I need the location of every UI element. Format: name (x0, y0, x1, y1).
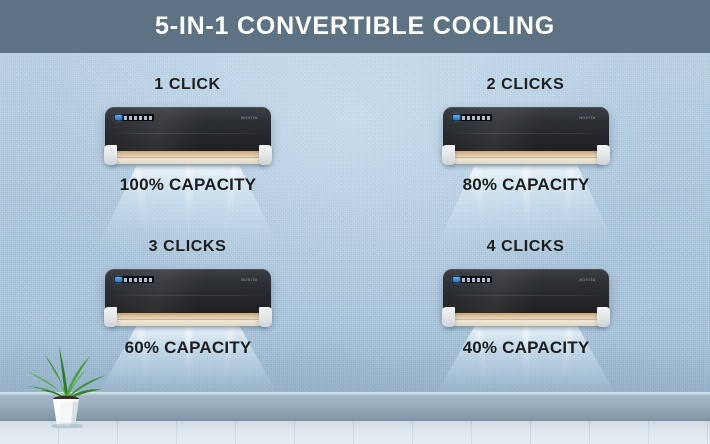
power-led-icon (115, 277, 122, 282)
ac-display-panel (114, 114, 154, 121)
plant-leaves (26, 346, 106, 399)
ac-unit-mode-1[interactable]: NOVITA (105, 107, 271, 167)
ac-body-crease (448, 133, 604, 134)
ac-side-cap-left (442, 145, 455, 165)
ac-side-cap-left (104, 307, 117, 327)
power-led-icon (453, 277, 460, 282)
ac-brand-logo: NOVITA (241, 277, 258, 282)
ac-louver-vent (109, 151, 267, 164)
capacity-label-mode-2: 80% CAPACITY (433, 175, 619, 195)
capacity-label-mode-3: 60% CAPACITY (95, 338, 281, 358)
ac-side-cap-right (597, 307, 610, 327)
ac-side-cap-right (259, 307, 272, 327)
display-segments-icon (124, 116, 154, 120)
ac-side-cap-right (597, 145, 610, 165)
click-label-mode-2: 2 CLICKS (443, 76, 608, 94)
ac-louver-vent (447, 313, 605, 326)
ac-louver-seam (112, 319, 263, 320)
ac-body-crease (110, 295, 266, 296)
ac-side-cap-left (104, 145, 117, 165)
ac-unit-mode-4[interactable]: NOVITA (443, 269, 609, 329)
ac-louver-seam (450, 157, 601, 158)
ac-body-crease (448, 295, 604, 296)
ac-louver-seam (112, 157, 263, 158)
header-banner: 5-IN-1 CONVERTIBLE COOLING (0, 0, 710, 53)
ac-body-crease (110, 133, 266, 134)
power-led-icon (453, 115, 460, 120)
ac-display-panel (114, 276, 154, 283)
plant-shadow (51, 423, 83, 428)
ac-brand-logo: NOVITA (579, 115, 596, 120)
ac-display-panel (452, 276, 492, 283)
page-title: 5-IN-1 CONVERTIBLE COOLING (155, 12, 555, 41)
potted-palm-plant-icon (18, 338, 114, 428)
ac-brand-logo: NOVITA (579, 277, 596, 282)
display-segments-icon (462, 278, 492, 282)
display-segments-icon (124, 278, 154, 282)
ac-louver-vent (109, 313, 267, 326)
ac-louver-vent (447, 151, 605, 164)
ac-louver-seam (450, 319, 601, 320)
capacity-label-mode-1: 100% CAPACITY (95, 175, 281, 195)
capacity-label-mode-4: 40% CAPACITY (433, 338, 619, 358)
ac-unit-mode-2[interactable]: NOVITA (443, 107, 609, 167)
ac-side-cap-right (259, 145, 272, 165)
cooling-infographic-scene: 1 CLICK NOVITA 100% CAPACITY 2 CLICKS NO… (0, 0, 710, 444)
click-label-mode-1: 1 CLICK (105, 76, 270, 94)
click-label-mode-3: 3 CLICKS (105, 238, 270, 256)
ac-unit-mode-3[interactable]: NOVITA (105, 269, 271, 329)
ac-side-cap-left (442, 307, 455, 327)
power-led-icon (115, 115, 122, 120)
ac-brand-logo: NOVITA (241, 115, 258, 120)
click-label-mode-4: 4 CLICKS (443, 238, 608, 256)
plant-pot (53, 399, 79, 426)
display-segments-icon (462, 116, 492, 120)
ac-display-panel (452, 114, 492, 121)
